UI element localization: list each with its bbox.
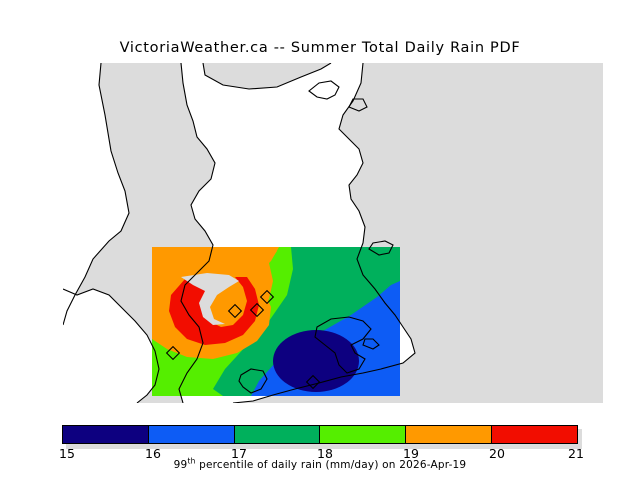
colorbar-band-18-19 <box>320 426 406 443</box>
colorbar-band-19-20 <box>406 426 492 443</box>
map-canvas <box>63 63 603 403</box>
caption-prefix: 99 <box>174 459 188 471</box>
colorbar-bands <box>62 425 578 444</box>
figure-title: VictoriaWeather.ca -- Summer Total Daily… <box>0 40 640 56</box>
colorbar-band-17-18 <box>235 426 321 443</box>
contour-band-15-16 <box>273 330 359 392</box>
colorbar-band-16-17 <box>149 426 235 443</box>
colorbar-band-15-16 <box>63 426 149 443</box>
caption-rest: percentile of daily rain (mm/day) on 202… <box>196 459 467 471</box>
caption-superscript: th <box>187 457 195 466</box>
map-panel <box>63 63 603 403</box>
colorbar-caption: 99th percentile of daily rain (mm/day) o… <box>0 459 640 471</box>
colorbar-band-20-21 <box>492 426 577 443</box>
weather-map-figure: VictoriaWeather.ca -- Summer Total Daily… <box>0 0 640 480</box>
